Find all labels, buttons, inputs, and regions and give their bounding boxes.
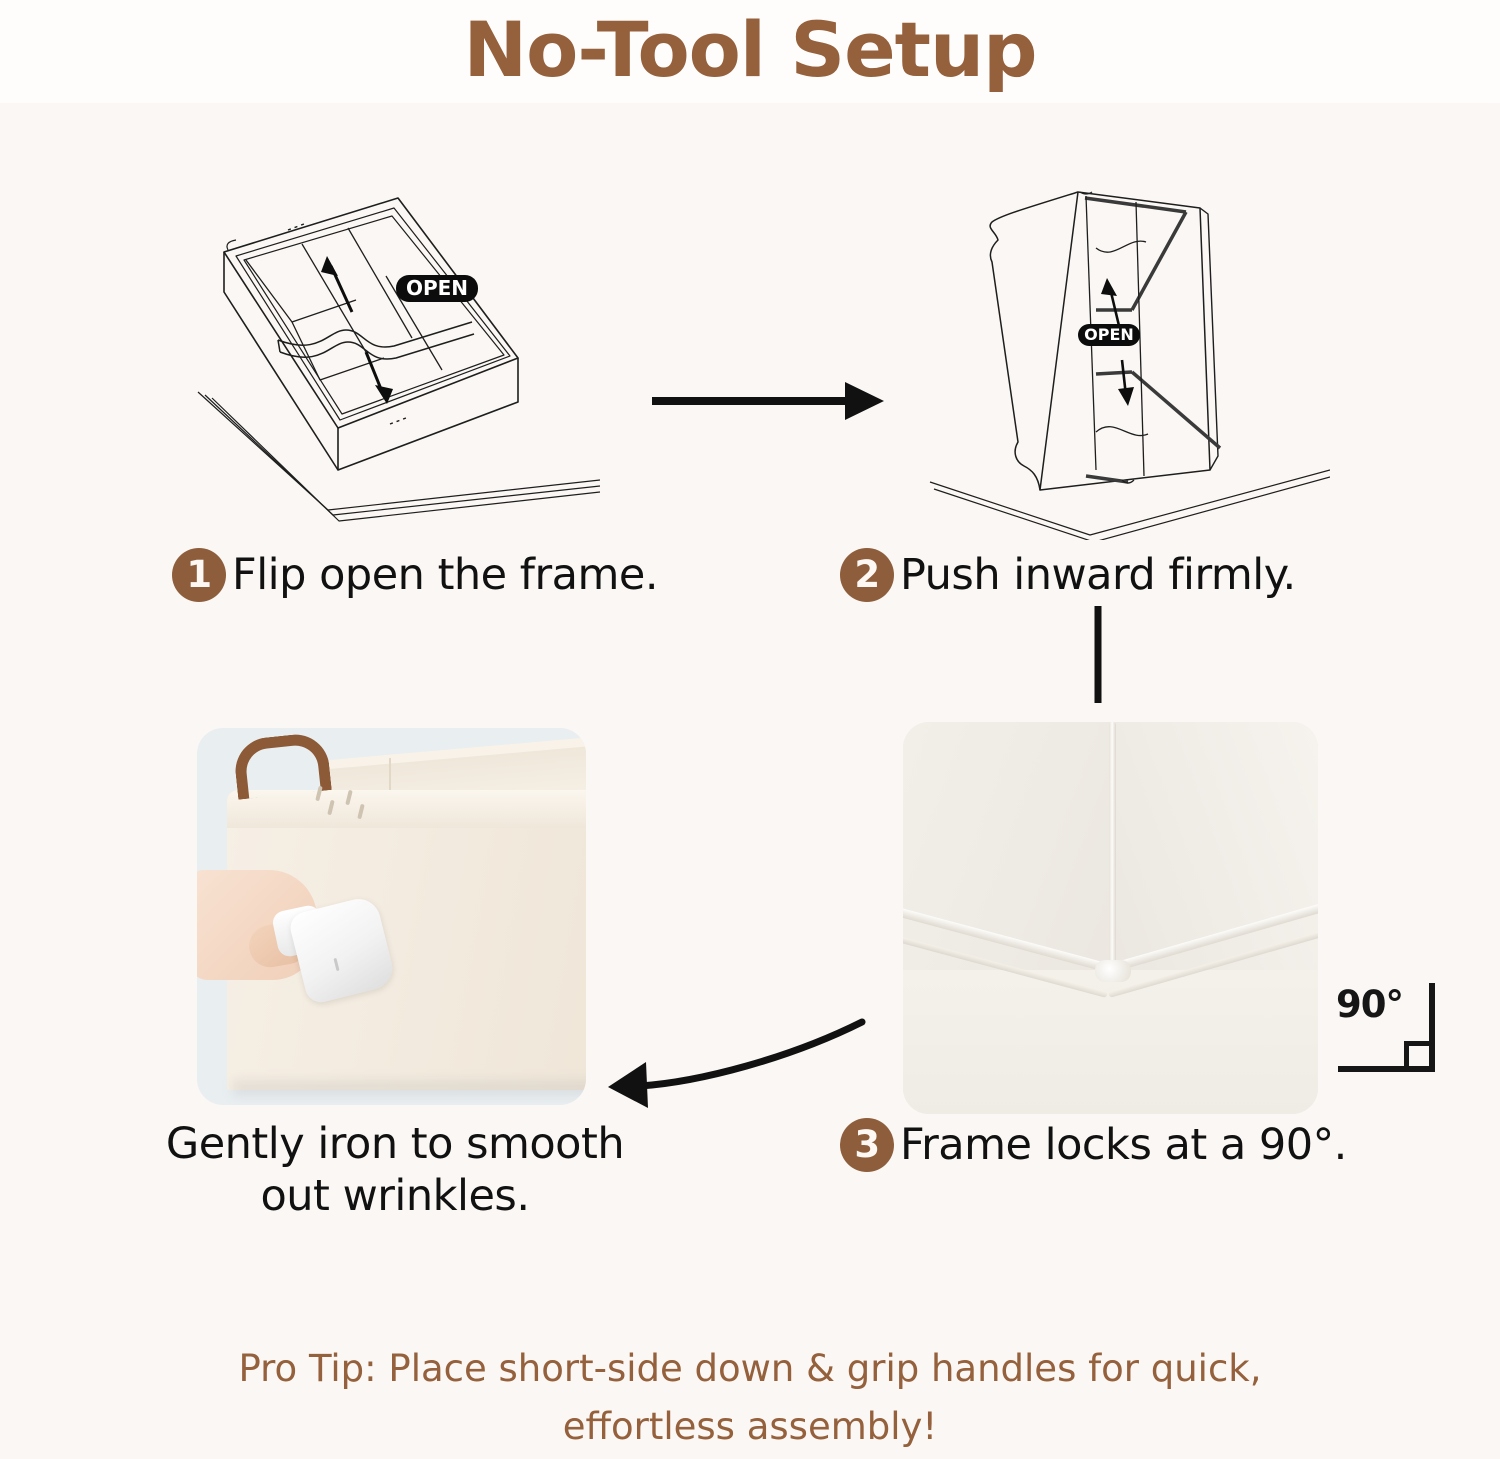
step-2-illustration: OPEN xyxy=(900,170,1330,540)
svg-text:OPEN: OPEN xyxy=(1084,325,1134,344)
open-label-step-2: OPEN xyxy=(1078,324,1140,346)
step-3-caption-text: Frame locks at a 90°. xyxy=(900,1120,1347,1170)
corner-vertical-seam xyxy=(1109,722,1116,974)
page-title: No-Tool Setup xyxy=(0,2,1500,98)
svg-text:OPEN: OPEN xyxy=(406,276,468,300)
open-label-step-1: OPEN xyxy=(396,275,478,302)
step-1-caption: 1 Flip open the frame. xyxy=(172,548,658,602)
arrow-step1-to-step2 xyxy=(652,382,884,420)
bin-rim xyxy=(227,790,586,828)
step-1-illustration: OPEN xyxy=(180,180,600,550)
corner-junction xyxy=(1095,960,1131,982)
angle-square-marker xyxy=(1404,1041,1434,1071)
pro-tip-line-2: effortless assembly! xyxy=(90,1398,1410,1456)
step-1-badge: 1 xyxy=(172,548,226,602)
iron-caption-line-1: Gently iron to smooth xyxy=(110,1118,680,1170)
step-2-badge: 2 xyxy=(840,548,894,602)
iron-photo xyxy=(197,728,586,1105)
step-3-caption: 3 Frame locks at a 90°. xyxy=(840,1118,1347,1172)
pro-tip-line-1: Pro Tip: Place short-side down & grip ha… xyxy=(90,1340,1410,1398)
step-2-caption: 2 Push inward firmly. xyxy=(840,548,1296,602)
bin-shadow xyxy=(233,1080,586,1096)
iron-caption: Gently iron to smooth out wrinkles. xyxy=(110,1118,680,1222)
right-angle-icon: 90° xyxy=(1330,975,1450,1080)
step-1-caption-text: Flip open the frame. xyxy=(232,550,658,600)
pro-tip: Pro Tip: Place short-side down & grip ha… xyxy=(90,1340,1410,1456)
step-3-badge: 3 xyxy=(840,1118,894,1172)
angle-label: 90° xyxy=(1336,983,1403,1026)
step-2-caption-text: Push inward firmly. xyxy=(900,550,1296,600)
arrow-step3-to-iron xyxy=(608,1022,862,1108)
iron-caption-line-2: out wrinkles. xyxy=(110,1170,680,1222)
infographic-page: No-Tool Setup xyxy=(0,0,1500,1459)
corner-photo xyxy=(903,722,1318,1114)
